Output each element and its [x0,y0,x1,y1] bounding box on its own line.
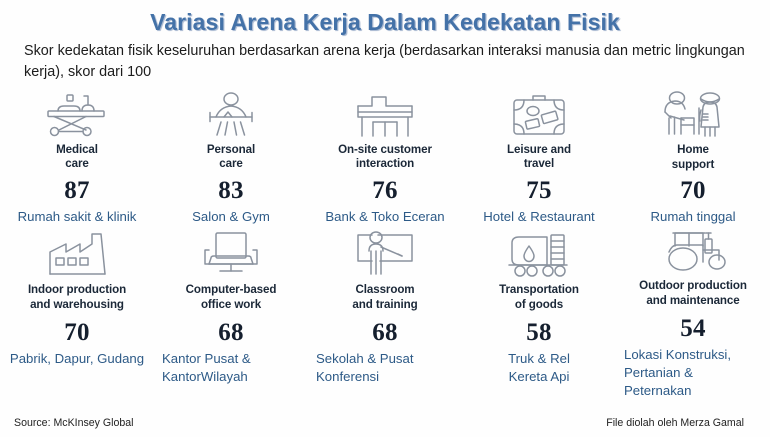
label-line: Kereta Api [468,368,610,386]
arena-label-en: On-site customer interaction [338,143,432,173]
label-line: Bank & Toko Eceran [325,208,444,226]
label-line: Computer-based [186,283,277,298]
infographic-page: Variasi Arena Kerja Dalam Kedekatan Fisi… [0,0,770,437]
arena-label-id: Salon & Gym [192,208,270,226]
arena-row: Medical care 87 Rumah sakit & klinik [0,90,770,226]
label-line: Lokasi Konstruksi, [624,346,764,364]
arena-label-id: Bank & Toko Eceran [325,208,444,226]
header: Variasi Arena Kerja Dalam Kedekatan Fisi… [0,0,770,84]
arena-cell-computer-office-work[interactable]: Computer-based office work 68 Kantor Pus… [154,226,308,396]
credit-text: File diolah oleh Merza Gamal [606,417,744,429]
arena-label-id: Rumah tinggal [650,208,735,226]
label-line: Pabrik, Dapur, Gudang [6,350,148,368]
factory-icon [42,226,112,278]
arena-label-en: Indoor production and warehousing [28,283,126,315]
label-line: interaction [338,157,432,172]
desktop-computer-icon [197,226,265,278]
label-line: Konferensi [316,368,456,386]
arena-cell-transportation-goods[interactable]: Transportation of goods 58 Truk & Rel Ke… [462,226,616,396]
label-line: care [56,157,98,172]
arena-label-id: Truk & Rel Kereta Api [468,350,610,386]
shower-person-icon [199,90,263,138]
page-subtitle: Skor kedekatan fisik keseluruhan berdasa… [24,41,752,84]
elderly-care-icon [653,90,733,138]
label-line: Truk & Rel [468,350,610,368]
arena-score: 83 [218,176,244,206]
arena-label-id: Kantor Pusat & KantorWilayah [160,350,302,386]
label-line: Medical [56,143,98,158]
label-line: Rumah tinggal [650,208,735,226]
arena-label-en: Medical care [56,143,98,173]
label-line: Rumah sakit & klinik [18,208,137,226]
whiteboard-presenter-icon [350,226,420,278]
label-line: of goods [499,298,579,313]
storefront-counter-icon [352,90,418,138]
label-line: Kantor Pusat & [162,350,302,368]
label-line: Home [672,143,714,158]
label-line: and maintenance [639,294,747,309]
suitcase-icon [506,90,572,138]
footer: Source: McKInsey Global File diolah oleh… [0,417,770,429]
arena-cell-indoor-production[interactable]: Indoor production and warehousing 70 Pab… [0,226,154,396]
arena-score: 75 [526,176,552,206]
arena-label-en: Personal care [207,143,255,173]
arena-label-en: Computer-based office work [186,283,277,315]
label-line: support [672,158,714,173]
label-line: Sekolah & Pusat [316,350,456,368]
arena-score: 58 [526,318,552,348]
label-line: Leisure and [507,143,571,158]
label-line: Transportation [499,283,579,298]
arena-score: 87 [64,176,90,206]
arena-score: 68 [218,318,244,348]
arena-cell-classroom-training[interactable]: Classroom and training 68 Sekolah & Pusa… [308,226,462,396]
arena-score: 68 [372,318,398,348]
label-line: office work [186,298,277,313]
arena-grid: Medical care 87 Rumah sakit & klinik [0,90,770,396]
label-line: Salon & Gym [192,208,270,226]
arena-label-id: Lokasi Konstruksi, Pertanian & Peternaka… [622,346,764,399]
arena-cell-medical-care[interactable]: Medical care 87 Rumah sakit & klinik [0,90,154,226]
arena-cell-outdoor-production[interactable]: Outdoor production and maintenance 54 Lo… [616,226,770,396]
label-line: Outdoor production [639,279,747,294]
label-line: Pertanian & Peternakan [624,364,764,400]
label-line: Personal [207,143,255,158]
label-line: Indoor production [28,283,126,298]
arena-label-en: Transportation of goods [499,283,579,315]
tractor-icon [655,226,731,274]
arena-row: Indoor production and warehousing 70 Pab… [0,226,770,396]
arena-label-en: Leisure and travel [507,143,571,173]
label-line: and training [352,298,417,313]
label-line: travel [507,157,571,172]
arena-label-en: Home support [672,143,714,173]
label-line: Classroom [352,283,417,298]
hospital-stretcher-icon [40,90,114,138]
label-line: KantorWilayah [162,368,302,386]
label-line: On-site customer [338,143,432,158]
arena-label-id: Hotel & Restaurant [483,208,594,226]
arena-score: 76 [372,176,398,206]
label-line: and warehousing [28,298,126,313]
arena-label-en: Classroom and training [352,283,417,315]
arena-score: 70 [64,318,90,348]
arena-score: 70 [680,176,706,206]
arena-cell-leisure-travel[interactable]: Leisure and travel 75 Hotel & Restaurant [462,90,616,226]
arena-label-en: Outdoor production and maintenance [639,279,747,311]
arena-score: 54 [680,314,706,344]
tanker-railcar-icon [503,226,575,278]
arena-cell-home-support[interactable]: Home support 70 Rumah tinggal [616,90,770,226]
source-text: Source: McKInsey Global [14,417,134,429]
arena-cell-onsite-customer-interaction[interactable]: On-site customer interaction 76 Bank & T… [308,90,462,226]
arena-label-id: Pabrik, Dapur, Gudang [6,350,148,368]
arena-cell-personal-care[interactable]: Personal care 83 Salon & Gym [154,90,308,226]
arena-label-id: Rumah sakit & klinik [18,208,137,226]
label-line: Hotel & Restaurant [483,208,594,226]
page-title: Variasi Arena Kerja Dalam Kedekatan Fisi… [14,8,756,37]
label-line: care [207,157,255,172]
arena-label-id: Sekolah & Pusat Konferensi [314,350,456,386]
